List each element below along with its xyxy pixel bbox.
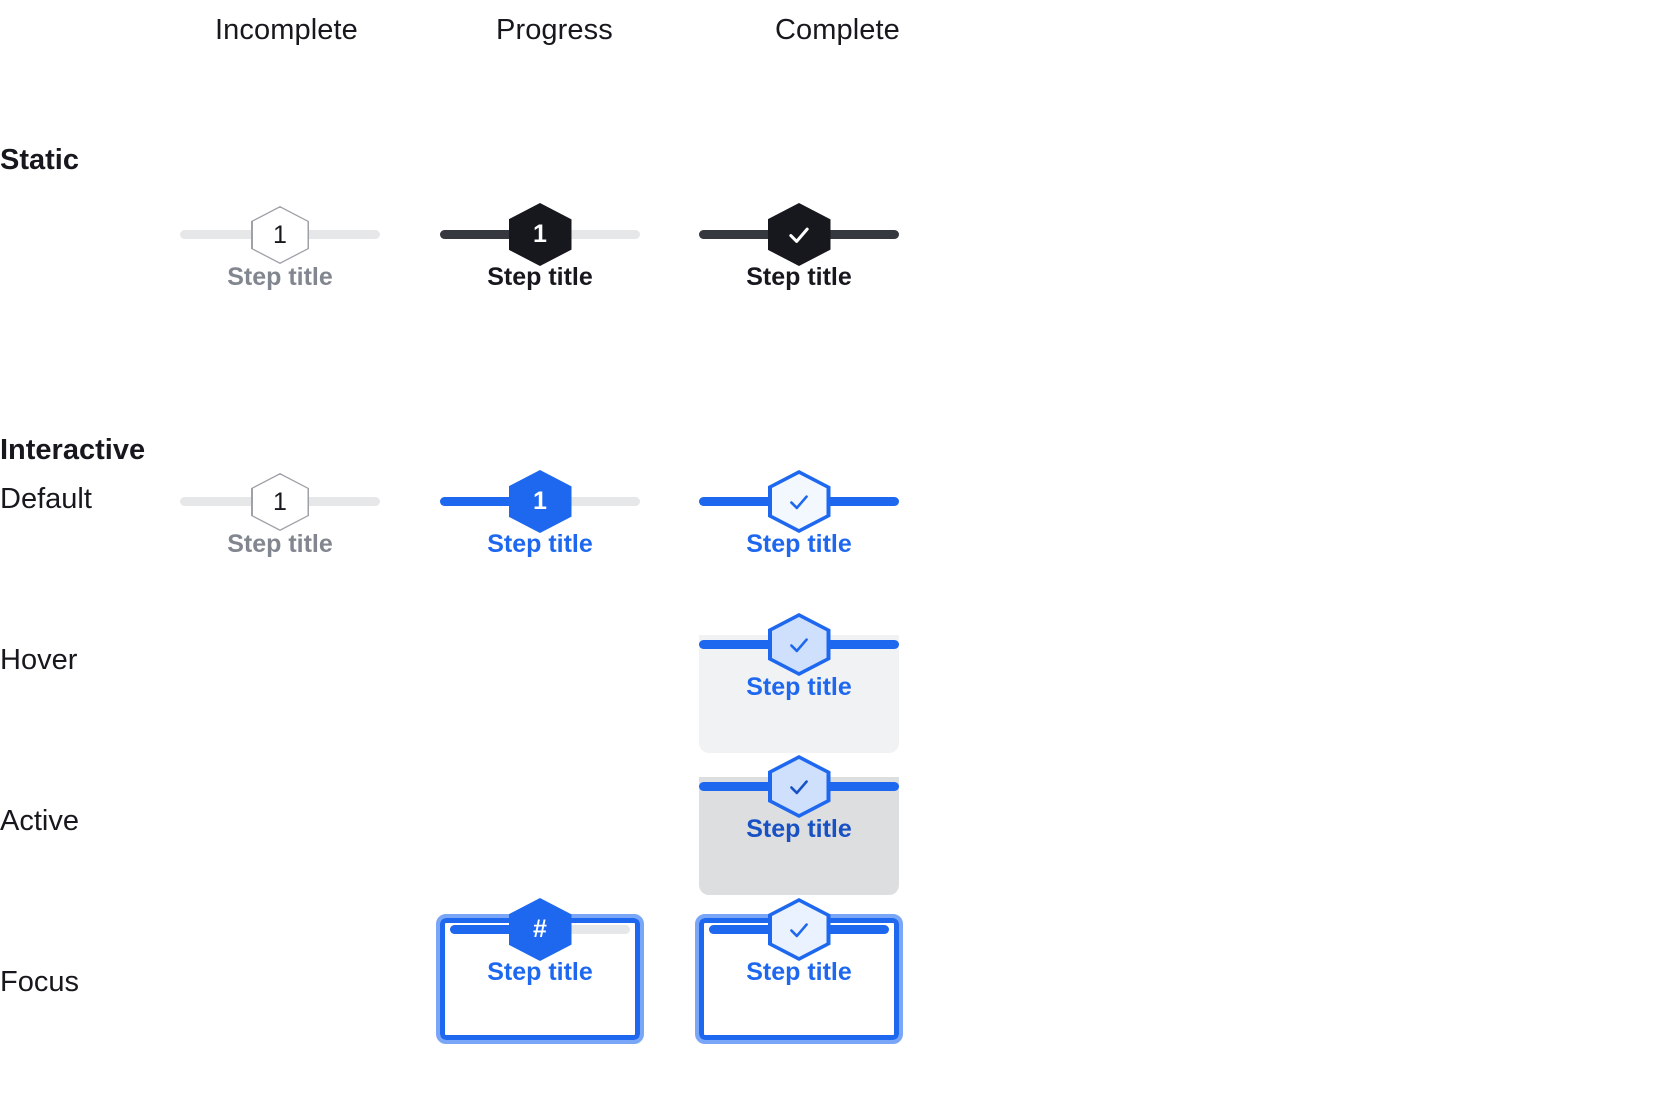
step-title: Step title (699, 958, 899, 987)
check-icon (786, 489, 812, 515)
column-header-incomplete: Incomplete (215, 14, 358, 47)
step-marker-hexagon (768, 203, 831, 266)
row-label-active: Active (0, 805, 79, 838)
check-icon-wrap (772, 474, 827, 529)
column-header-complete: Complete (775, 14, 900, 47)
step-number: 1 (533, 489, 547, 514)
step-number: 1 (533, 222, 547, 247)
row-label-hover: Hover (0, 644, 77, 677)
step-title: Step title (440, 263, 640, 292)
step-number: # (533, 917, 547, 942)
check-icon (786, 632, 812, 658)
step-marker-hexagon: 1 (509, 470, 572, 533)
check-icon-wrap (772, 902, 827, 957)
step-number: 1 (253, 475, 308, 530)
step-title: Step title (699, 530, 899, 559)
step-marker-hexagon: 1 (251, 206, 309, 264)
stepper-spec-canvas: Incomplete Progress Complete Static Inte… (0, 0, 1672, 1100)
check-icon-wrap (772, 759, 827, 814)
step-title: Step title (180, 263, 380, 292)
step-title: Step title (440, 530, 640, 559)
step-title: Step title (699, 673, 899, 702)
step-title: Step title (699, 263, 899, 292)
row-label-default: Default (0, 483, 92, 516)
step-title: Step title (440, 958, 640, 987)
step-marker-hexagon: 1 (509, 203, 572, 266)
check-icon (785, 221, 813, 249)
check-icon (786, 774, 812, 800)
step-title: Step title (180, 530, 380, 559)
column-header-progress: Progress (496, 14, 613, 47)
step-marker-hexagon (768, 470, 831, 533)
row-label-focus: Focus (0, 966, 79, 999)
step-title: Step title (699, 815, 899, 844)
step-marker-hexagon: 1 (251, 473, 309, 531)
step-number: 1 (253, 208, 308, 263)
section-label-interactive: Interactive (0, 434, 145, 467)
check-icon-wrap (772, 617, 827, 672)
check-icon (786, 917, 812, 943)
section-label-static: Static (0, 144, 79, 177)
